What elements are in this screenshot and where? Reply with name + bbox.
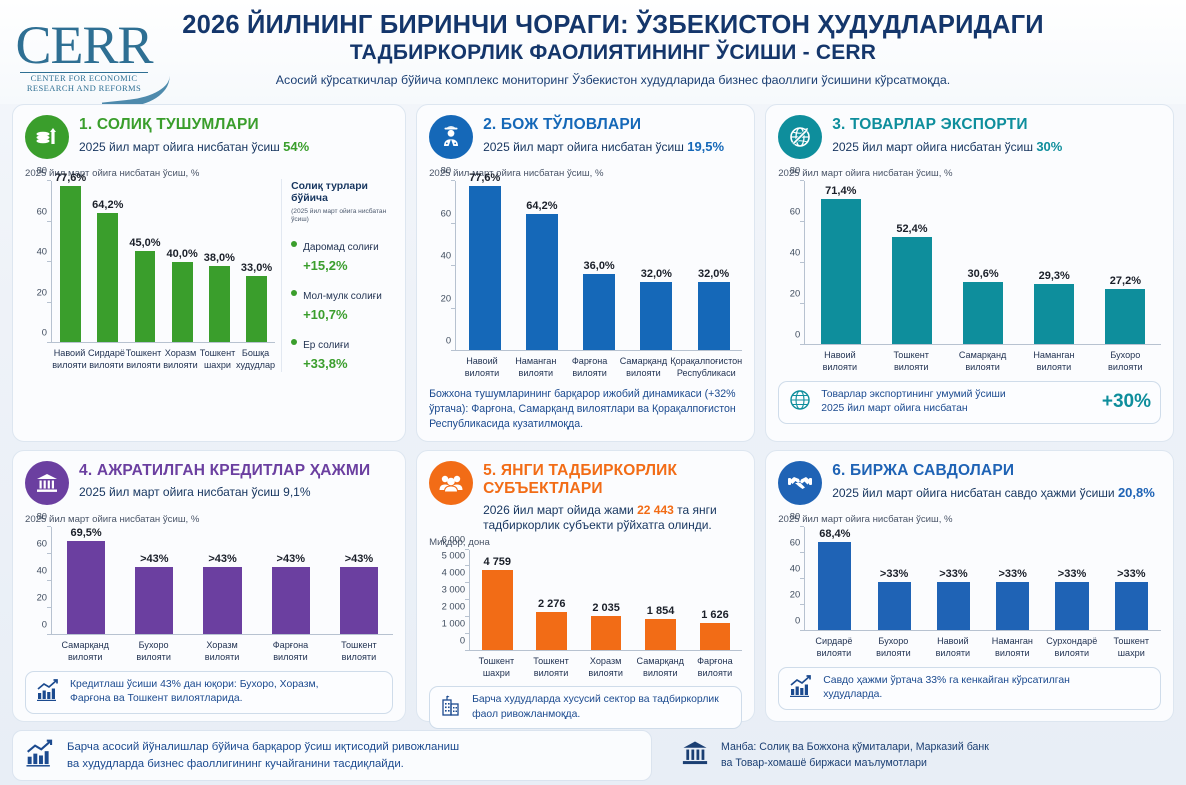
- header-title-block: 2026 ЙИЛНИНГ БИРИНЧИ ЧОРАГИ: ЎЗБЕКИСТОН …: [0, 0, 1186, 87]
- bar-value-label: 40,0%: [167, 248, 198, 260]
- bar[interactable]: [340, 567, 378, 634]
- note-text: Кредитлаш ўсиши 43% дан юқори: Бухоро, Х…: [70, 678, 383, 707]
- note-text-line1: Кредитлаш ўсиши 43% дан юқори: Бухоро, Х…: [70, 679, 319, 690]
- card-subtitle: 2025 йил март ойига нисбатан ўсиш 54%: [79, 139, 309, 155]
- card-subtitle: 2026 йил март ойида жами 22 443 та янги …: [483, 503, 742, 533]
- y-tick-label: 20: [37, 286, 47, 297]
- chart-axis-caption: Миқдор, дона: [429, 537, 742, 548]
- customs-officer-icon: [429, 115, 473, 159]
- bar-value-label: 64,2%: [526, 200, 557, 212]
- card-subtitle-value: 22 443: [637, 503, 674, 517]
- bar[interactable]: [698, 282, 730, 350]
- card-new-business-entities: 5. ЯНГИ ТАДБИРКОРЛИК СУБЪЕКТЛАРИ 2026 йи…: [416, 450, 755, 722]
- note-text: Барча худудларда хусусий сектор ва тадби…: [472, 693, 732, 722]
- conclusion-line1: Барча асосий йўналишлар бўйича барқарор …: [67, 741, 459, 753]
- bar-slot[interactable]: 38,0%: [201, 181, 238, 342]
- legend-note: (2025 йил март ойига нисбатан ўсиш): [291, 208, 393, 224]
- bar-value-label: 32,0%: [698, 268, 729, 280]
- bar-value-label: 2 035: [592, 602, 620, 614]
- card-customs-duties: 2. БОЖ ТЎЛОВЛАРИ 2025 йил март ойига нис…: [416, 104, 755, 442]
- y-tick-label: 0: [460, 634, 465, 645]
- y-tick-label: 20: [441, 292, 451, 303]
- card-subtitle: 2025 йил март ойига нисбатан ўсиш 19,5%: [483, 139, 724, 155]
- y-tick-label: 20: [37, 592, 47, 603]
- cards-row-bottom: 4. АЖРАТИЛГАН КРЕДИТЛАР ҲАЖМИ 2025 йил м…: [12, 450, 1174, 722]
- trading-note: Савдо ҳажми ўртача 33% га кенкайган кўрс…: [778, 667, 1161, 710]
- chart-axis-caption: 2025 йил март ойига нисбатан ўсиш, %: [778, 514, 1161, 525]
- y-tick-label: 20: [790, 288, 800, 299]
- y-tick-label: 80: [441, 165, 451, 176]
- x-axis-label: Сирдарёвилояти: [804, 631, 863, 660]
- bar-value-label: 2 276: [538, 598, 566, 610]
- x-axis-label: Самарқандвилояти: [633, 651, 688, 680]
- x-axis-label: Бухоровилояти: [119, 635, 187, 664]
- card-subtitle-prefix: 2026 йил март ойида жами: [483, 503, 637, 517]
- money-growth-icon: [25, 115, 69, 159]
- x-axis-label: Хоразмвилояти: [162, 343, 199, 372]
- x-axis-label: Наманганвилояти: [509, 351, 563, 380]
- x-axis-label: Навоийвилояти: [804, 345, 875, 374]
- bar-value-label: 33,0%: [241, 262, 272, 274]
- bar-slot[interactable]: 36,0%: [571, 181, 628, 350]
- bar-value-label: >43%: [345, 553, 373, 565]
- bar-value-label: >33%: [1058, 568, 1086, 580]
- x-axis-label: Фарғонавилояти: [563, 351, 617, 380]
- bar[interactable]: [172, 262, 193, 343]
- chart-y-axis: 020406080: [429, 181, 455, 351]
- chart-exchange-trading: 020406080 68,4%>33%>33%>33%>33%>33%: [778, 527, 1161, 631]
- page-subtitle: Асосий кўрсаткичлар бўйича комплекс мони…: [0, 73, 1186, 87]
- tax-types-legend: Солиқ турлари бўйича (2025 йил март ойиг…: [281, 179, 393, 372]
- bar-slot[interactable]: 1 626: [688, 550, 742, 650]
- bar-slot[interactable]: 52,4%: [876, 181, 947, 344]
- bar[interactable]: [272, 567, 310, 634]
- bullet-dot-icon: [291, 241, 297, 247]
- chart-y-axis: 020406080: [778, 181, 804, 345]
- bar-slot[interactable]: >33%: [924, 527, 983, 630]
- export-growth-value: +30%: [1102, 391, 1151, 413]
- bar-slot[interactable]: 30,6%: [948, 181, 1019, 344]
- y-tick-label: 0: [42, 327, 47, 338]
- bar-value-label: 27,2%: [1110, 275, 1141, 287]
- chart-x-labels: НавоийвилоятиНаманганвилоятиФарғонавилоя…: [429, 351, 742, 380]
- bar-value-label: 69,5%: [71, 527, 102, 539]
- y-tick-label: 80: [790, 165, 800, 176]
- y-tick-label: 60: [441, 207, 451, 218]
- chart-x-labels: СамарқандвилоятиБухоровилоятиХоразмвилоя…: [25, 635, 393, 664]
- bank-icon: [25, 461, 69, 505]
- bar[interactable]: [700, 623, 730, 650]
- bar-value-label: 68,4%: [819, 528, 850, 540]
- bar-slot[interactable]: >43%: [325, 527, 393, 634]
- conclusion-line2: ва худудларда бизнес фаоллигининг кучайг…: [67, 758, 404, 770]
- chart-axis-caption: 2025 йил март ойига нисбатан ўсиш, %: [778, 168, 1161, 179]
- bar-chart-growth-icon: [788, 674, 814, 703]
- page-footer: Барча асосий йўналишлар бўйича барқарор …: [0, 730, 1186, 781]
- bar-value-label: >33%: [939, 568, 967, 580]
- card-subtitle-prefix: 2025 йил март ойига нисбатан ўсиш: [79, 485, 283, 499]
- bank-icon: [680, 738, 710, 773]
- bar-value-label: 36,0%: [584, 260, 615, 272]
- note-text-line1: Барча худудларда хусусий сектор ва тадби…: [472, 694, 719, 705]
- card-allocated-credits: 4. АЖРАТИЛГАН КРЕДИТЛАР ҲАЖМИ 2025 йил м…: [12, 450, 406, 722]
- x-axis-label: Тошкентвилояти: [325, 635, 393, 664]
- bar-value-label: 77,6%: [55, 172, 86, 184]
- card-subtitle-prefix: 2025 йил март ойига нисбатан ўсиш: [483, 140, 687, 154]
- y-tick-label: 40: [790, 247, 800, 258]
- bar-value-label: >33%: [880, 568, 908, 580]
- bar-slot[interactable]: 1 854: [633, 550, 687, 650]
- legend-item-label: Ер солиғи: [303, 340, 349, 351]
- y-tick-label: 60: [37, 538, 47, 549]
- bar[interactable]: [1115, 582, 1148, 630]
- bar-value-label: >43%: [277, 553, 305, 565]
- card-header-text: 5. ЯНГИ ТАДБИРКОРЛИК СУБЪЕКТЛАРИ 2026 йи…: [483, 461, 742, 533]
- card-subtitle-prefix: 2025 йил март ойига нисбатан ўсиш: [832, 140, 1036, 154]
- bar-slot[interactable]: 2 276: [525, 550, 579, 650]
- y-tick-label: 5 000: [442, 550, 465, 561]
- x-axis-label: Тошкентвилояти: [876, 345, 947, 374]
- bar[interactable]: [1105, 289, 1145, 344]
- bar[interactable]: [878, 582, 911, 630]
- bar[interactable]: [818, 542, 851, 630]
- note-text-line1: Товарлар экспортининг умумий ўсиши: [821, 389, 1005, 400]
- y-tick-label: 80: [37, 511, 47, 522]
- chart-x-labels: СирдарёвилоятиБухоровилоятиНавоийвилояти…: [778, 631, 1161, 660]
- bar-value-label: 45,0%: [129, 237, 160, 249]
- card-header: 4. АЖРАТИЛГАН КРЕДИТЛАР ҲАЖМИ 2025 йил м…: [25, 461, 393, 505]
- x-axis-label: ҚорақалпоғистонРеспубликаси: [670, 351, 742, 380]
- y-tick-label: 0: [795, 615, 800, 626]
- y-tick-label: 1 000: [442, 617, 465, 628]
- bullet-dot-icon: [291, 290, 297, 296]
- x-axis-label: Хоразмвилояти: [188, 635, 256, 664]
- chart-plot-area: 77,6%64,2%45,0%40,0%38,0%33,0%: [51, 181, 275, 343]
- y-tick-label: 40: [790, 563, 800, 574]
- bar[interactable]: [963, 282, 1003, 344]
- note-text: Товарлар экспортининг умумий ўсиши 2025 …: [821, 388, 1093, 417]
- x-axis-label: Наманганвилояти: [983, 631, 1042, 660]
- bar[interactable]: [135, 567, 173, 634]
- x-axis-label: Самарқандвилояти: [947, 345, 1018, 374]
- bar-slot[interactable]: 64,2%: [513, 181, 570, 350]
- bar-value-label: >43%: [140, 553, 168, 565]
- bar-slot[interactable]: 77,6%: [456, 181, 513, 350]
- bar[interactable]: [60, 186, 81, 342]
- x-axis-label: Бухоровилояти: [1090, 345, 1161, 374]
- export-summary-note: Товарлар экспортининг умумий ўсиши 2025 …: [778, 381, 1161, 424]
- card-header: 2. БОЖ ТЎЛОВЛАРИ 2025 йил март ойига нис…: [429, 115, 742, 159]
- chart-plot-area: 71,4%52,4%30,6%29,3%27,2%: [804, 181, 1161, 345]
- y-tick-label: 60: [37, 205, 47, 216]
- cards-grid: 1. СОЛИҚ ТУШУМЛАРИ 2025 йил март ойига н…: [0, 104, 1186, 722]
- bar[interactable]: [1055, 582, 1088, 630]
- credits-note: Кредитлаш ўсиши 43% дан юқори: Бухоро, Х…: [25, 671, 393, 714]
- card-subtitle: 2025 йил март ойига нисбатан ўсиш 30%: [832, 139, 1062, 155]
- card-header: 1. СОЛИҚ ТУШУМЛАРИ 2025 йил март ойига н…: [25, 115, 393, 159]
- legend-title: Солиқ турлари бўйича: [291, 181, 393, 206]
- bar-value-label: 1 854: [647, 605, 675, 617]
- bar-slot[interactable]: 71,4%: [805, 181, 876, 344]
- note-text-line1: Савдо ҳажми ўртача 33% га кенкайган кўрс…: [823, 675, 1070, 686]
- card-exchange-trading: 6. БИРЖА САВДОЛАРИ 2025 йил март ойига н…: [765, 450, 1174, 722]
- y-tick-label: 0: [42, 619, 47, 630]
- chart-x-labels: ТошкентшахриТошкентвилоятиХоразмвилоятиС…: [429, 651, 742, 680]
- y-tick-label: 40: [441, 250, 451, 261]
- x-axis-label: Навоийвилояти: [923, 631, 982, 660]
- x-axis-label: Тошкентшахри: [469, 651, 524, 680]
- card-subtitle-prefix: 2025 йил март ойига нисбатан ўсиш: [79, 140, 283, 154]
- bar-slot[interactable]: 40,0%: [164, 181, 201, 342]
- card-title: 6. БИРЖА САВДОЛАРИ: [832, 462, 1155, 480]
- legend-item: Мол-мулк солиғи +10,7%: [291, 286, 393, 322]
- bullet-dot-icon: [291, 339, 297, 345]
- bar-slot[interactable]: >33%: [1042, 527, 1101, 630]
- y-tick-label: 60: [790, 206, 800, 217]
- chart-y-axis: 020406080: [25, 527, 51, 635]
- source-line2: ва Товар-хомашё биржаси маълумотлари: [721, 757, 927, 769]
- bar-slot[interactable]: >33%: [1102, 527, 1161, 630]
- bar-value-label: 71,4%: [825, 185, 856, 197]
- card-subtitle: 2025 йил март ойига нисбатан савдо ҳажми…: [832, 485, 1155, 501]
- note-text-line2: 2025 йил март ойига нисбатан: [821, 403, 967, 414]
- bar[interactable]: [135, 251, 156, 342]
- bar[interactable]: [536, 612, 566, 650]
- bar-value-label: 77,6%: [469, 172, 500, 184]
- x-axis-label: Хоразмвилояти: [578, 651, 633, 680]
- bar-slot[interactable]: 45,0%: [126, 181, 163, 342]
- chart-tax-revenues: 020406080 77,6%64,2%45,0%40,0%38,0%33,0%: [25, 181, 275, 343]
- note-text-line2: Фарғона ва Тошкент вилоятларида.: [70, 693, 243, 704]
- bar-slot[interactable]: >43%: [188, 527, 256, 634]
- legend-item-label: Даромад солиғи: [303, 242, 379, 253]
- conclusion-text: Барча асосий йўналишлар бўйича барқарор …: [67, 739, 459, 772]
- card-header-text: 1. СОЛИҚ ТУШУМЛАРИ 2025 йил март ойига н…: [79, 115, 309, 155]
- bar-slot[interactable]: 27,2%: [1090, 181, 1161, 344]
- bar-slot[interactable]: 29,3%: [1019, 181, 1090, 344]
- bar[interactable]: [209, 266, 230, 342]
- bar[interactable]: [67, 541, 105, 634]
- x-axis-label: Бухоровилояти: [864, 631, 923, 660]
- bar-slot[interactable]: 2 035: [579, 550, 633, 650]
- chart-new-business-entities: 01 0002 0003 0004 0005 0006 000 4 7592 2…: [429, 550, 742, 651]
- x-axis-label: Фарғонавилояти: [256, 635, 324, 664]
- chart-y-axis: 020406080: [25, 181, 51, 343]
- bar-value-label: 29,3%: [1039, 270, 1070, 282]
- y-tick-label: 3 000: [442, 584, 465, 595]
- card-header: 3. ТОВАРЛАР ЭКСПОРТИ 2025 йил март ойига…: [778, 115, 1161, 159]
- card-subtitle: 2025 йил март ойига нисбатан ўсиш 9,1%: [79, 485, 370, 500]
- x-axis-label: Сурхондарёвилояти: [1042, 631, 1101, 660]
- bar-slot[interactable]: 32,0%: [685, 181, 742, 350]
- globe-export-icon: [778, 115, 822, 159]
- source-block: Манба: Солиқ ва Божхона қўмиталари, Марк…: [662, 738, 989, 773]
- bar-slot[interactable]: 64,2%: [89, 181, 126, 342]
- bar[interactable]: [482, 570, 512, 649]
- card-title: 1. СОЛИҚ ТУШУМЛАРИ: [79, 116, 309, 134]
- conclusion-box: Барча асосий йўналишлар бўйича барқарор …: [12, 730, 652, 781]
- x-axis-label: Навоийвилояти: [51, 343, 88, 372]
- cards-row-top: 1. СОЛИҚ ТУШУМЛАРИ 2025 йил март ойига н…: [12, 104, 1174, 442]
- card-title: 4. АЖРАТИЛГАН КРЕДИТЛАР ҲАЖМИ: [79, 462, 370, 480]
- card-header-text: 4. АЖРАТИЛГАН КРЕДИТЛАР ҲАЖМИ 2025 йил м…: [79, 461, 370, 500]
- note-text: Савдо ҳажми ўртача 33% га кенкайган кўрс…: [823, 674, 1151, 703]
- y-tick-label: 4 000: [442, 567, 465, 578]
- bar-value-label: >43%: [208, 553, 236, 565]
- bar[interactable]: [645, 619, 675, 650]
- card-subtitle-value: 19,5%: [687, 139, 724, 154]
- page-title-line2: ТАДБИРКОРЛИК ФАОЛИЯТИНИНГ ЎСИШИ - CERR: [0, 40, 1186, 66]
- card-subtitle-value: 54%: [283, 139, 309, 154]
- y-tick-label: 20: [790, 589, 800, 600]
- people-group-icon: [429, 461, 473, 505]
- x-axis-label: Навоийвилояти: [455, 351, 509, 380]
- page-header: CERR CENTER FOR ECONOMIC RESEARCH AND RE…: [0, 0, 1186, 104]
- legend-item-value: +33,8%: [303, 356, 349, 371]
- card-goods-export: 3. ТОВАРЛАР ЭКСПОРТИ 2025 йил март ойига…: [765, 104, 1174, 442]
- globe-icon: [788, 388, 812, 417]
- bar-value-label: 52,4%: [896, 223, 927, 235]
- bar[interactable]: [821, 199, 861, 344]
- x-axis-label: Тошкентвилояти: [125, 343, 162, 372]
- card-title: 2. БОЖ ТЎЛОВЛАРИ: [483, 116, 724, 134]
- bar[interactable]: [203, 567, 241, 634]
- card-subtitle-value: 30%: [1036, 139, 1062, 154]
- bar-slot[interactable]: 77,6%: [52, 181, 89, 342]
- y-tick-label: 0: [446, 335, 451, 346]
- x-axis-label: Бошқахудудлар: [236, 343, 275, 372]
- bar-value-label: 30,6%: [967, 268, 998, 280]
- x-axis-label: Самарқандвилояти: [617, 351, 671, 380]
- chart-x-labels: НавоийвилоятиТошкентвилоятиСамарқандвило…: [778, 345, 1161, 374]
- logo-swash-decoration: [98, 58, 172, 109]
- bar-chart-growth-icon: [24, 738, 56, 773]
- bar[interactable]: [97, 213, 118, 342]
- card-header-text: 6. БИРЖА САВДОЛАРИ 2025 йил март ойига н…: [832, 461, 1155, 501]
- chart-x-labels: НавоийвилоятиСирдарёвилоятиТошкентвилоят…: [25, 343, 275, 372]
- bar[interactable]: [640, 282, 672, 350]
- legend-item: Даромад солиғи +15,2%: [291, 237, 393, 273]
- bar-slot[interactable]: 33,0%: [238, 181, 275, 342]
- chart-axis-caption: 2025 йил март ойига нисбатан ўсиш, %: [25, 514, 393, 525]
- cerr-logo: CERR CENTER FOR ECONOMIC RESEARCH AND RE…: [4, 18, 164, 96]
- bar-slot[interactable]: 4 759: [470, 550, 524, 650]
- bar-value-label: 64,2%: [92, 199, 123, 211]
- bar[interactable]: [996, 582, 1029, 630]
- note-text-line2: худудларда.: [823, 689, 882, 700]
- bar[interactable]: [469, 186, 501, 350]
- x-axis-label: Сирдарёвилояти: [88, 343, 125, 372]
- card-subtitle-prefix: 2025 йил март ойига нисбатан савдо ҳажми…: [832, 486, 1118, 500]
- x-axis-label: Самарқандвилояти: [51, 635, 119, 664]
- y-tick-label: 2 000: [442, 600, 465, 611]
- y-tick-label: 0: [795, 329, 800, 340]
- y-tick-label: 80: [790, 511, 800, 522]
- bar-value-label: 32,0%: [641, 268, 672, 280]
- card-subtitle-value: 20,8%: [1118, 485, 1155, 500]
- chart-allocated-credits: 020406080 69,5%>43%>43%>43%>43%: [25, 527, 393, 635]
- bar[interactable]: [937, 582, 970, 630]
- bar-slot[interactable]: >33%: [864, 527, 923, 630]
- bar[interactable]: [892, 237, 932, 344]
- card-header-text: 2. БОЖ ТЎЛОВЛАРИ 2025 йил март ойига нис…: [483, 115, 724, 155]
- legend-item: Ер солиғи +33,8%: [291, 335, 393, 371]
- handshake-icon: [778, 461, 822, 505]
- chart-plot-area: 68,4%>33%>33%>33%>33%>33%: [804, 527, 1161, 631]
- bar-chart-growth-icon: [35, 678, 61, 707]
- card-note: Божхона тушумларининг барқарор ижобий ди…: [429, 387, 742, 432]
- legend-item-label: Мол-мулк солиғи: [303, 291, 382, 302]
- page-title-line1: 2026 ЙИЛНИНГ БИРИНЧИ ЧОРАГИ: ЎЗБЕКИСТОН …: [0, 10, 1186, 40]
- bar-slot[interactable]: >33%: [983, 527, 1042, 630]
- bar[interactable]: [246, 276, 267, 342]
- bar[interactable]: [583, 274, 615, 350]
- card-title: 3. ТОВАРЛАР ЭКСПОРТИ: [832, 116, 1062, 134]
- card-body: 020406080 77,6%64,2%45,0%40,0%38,0%33,0%…: [25, 179, 393, 372]
- y-tick-label: 80: [37, 165, 47, 176]
- bar-slot[interactable]: 32,0%: [628, 181, 685, 350]
- bar[interactable]: [526, 214, 558, 350]
- x-axis-label: Наманганвилояти: [1018, 345, 1089, 374]
- card-title: 5. ЯНГИ ТАДБИРКОРЛИК СУБЪЕКТЛАРИ: [483, 462, 742, 498]
- y-tick-label: 40: [37, 565, 47, 576]
- source-text: Манба: Солиқ ва Божхона қўмиталари, Марк…: [721, 740, 989, 771]
- chart-y-axis: 020406080: [778, 527, 804, 631]
- x-axis-label: Тошкентшахри: [1102, 631, 1161, 660]
- x-axis-label: Тошкентвилояти: [524, 651, 579, 680]
- bar[interactable]: [1034, 284, 1074, 344]
- card-header: 6. БИРЖА САВДОЛАРИ 2025 йил март ойига н…: [778, 461, 1161, 505]
- chart-plot-area: 69,5%>43%>43%>43%>43%: [51, 527, 393, 635]
- legend-item-value: +15,2%: [303, 258, 379, 273]
- chart-plot-area: 4 7592 2762 0351 8541 626: [469, 550, 742, 651]
- bar-value-label: >33%: [998, 568, 1026, 580]
- bar[interactable]: [591, 616, 621, 650]
- card-header: 5. ЯНГИ ТАДБИРКОРЛИК СУБЪЕКТЛАРИ 2026 йи…: [429, 461, 742, 533]
- y-tick-label: 60: [790, 537, 800, 548]
- note-text-line2: фаол ривожланмоқда.: [472, 709, 580, 720]
- x-axis-label: Тошкентшахри: [199, 343, 236, 372]
- bar-value-label: >33%: [1117, 568, 1145, 580]
- card-subtitle-value: 9,1%: [283, 485, 310, 499]
- source-line1: Манба: Солиқ ва Божхона қўмиталари, Марк…: [721, 741, 989, 753]
- chart-goods-export: 020406080 71,4%52,4%30,6%29,3%27,2%: [778, 181, 1161, 345]
- card-header-text: 3. ТОВАРЛАР ЭКСПОРТИ 2025 йил март ойига…: [832, 115, 1062, 155]
- card-tax-revenues: 1. СОЛИҚ ТУШУМЛАРИ 2025 йил март ойига н…: [12, 104, 406, 442]
- chart-plot-area: 77,6%64,2%36,0%32,0%32,0%: [455, 181, 742, 351]
- business-note: Барча худудларда хусусий сектор ва тадби…: [429, 686, 742, 729]
- y-tick-label: 40: [37, 246, 47, 257]
- bar-slot[interactable]: 69,5%: [52, 527, 120, 634]
- building-icon: [439, 693, 463, 722]
- x-axis-label: Фарғонавилояти: [688, 651, 743, 680]
- y-tick-label: 6 000: [442, 533, 465, 544]
- bar-slot[interactable]: >43%: [120, 527, 188, 634]
- chart-y-axis: 01 0002 0003 0004 0005 0006 000: [429, 550, 469, 651]
- bar-value-label: 38,0%: [204, 252, 235, 264]
- bar-value-label: 1 626: [701, 609, 729, 621]
- bar-slot[interactable]: 68,4%: [805, 527, 864, 630]
- bar-value-label: 4 759: [484, 556, 512, 568]
- chart-customs-duties: 020406080 77,6%64,2%36,0%32,0%32,0%: [429, 181, 742, 351]
- bar-slot[interactable]: >43%: [257, 527, 325, 634]
- legend-item-value: +10,7%: [303, 307, 382, 322]
